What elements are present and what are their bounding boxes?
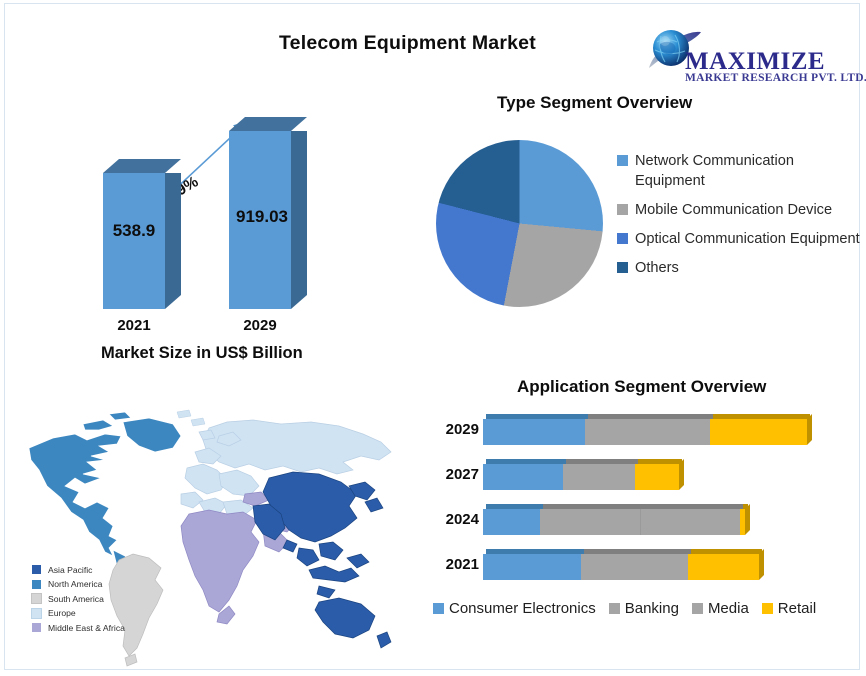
stack-2024 [483,509,749,535]
segment-consumer-electronics[interactable] [483,509,540,535]
legend-label: South America [48,594,104,604]
map-legend-item[interactable]: Asia Pacific [31,564,201,575]
legend-item[interactable]: Others [617,258,866,278]
stack-2027 [483,464,684,490]
bar-end-cap [679,459,684,490]
segment-retail[interactable] [710,419,807,445]
segment-consumer-electronics[interactable] [483,554,581,580]
bar-2029-category: 2029 [227,317,293,334]
bar-end-cap [759,549,764,580]
type-segment-pie-chart [436,140,603,307]
bar-end-cap [807,414,812,445]
legend-label: Consumer Electronics [449,600,596,617]
legend-swatch [617,204,628,215]
legend-item[interactable]: Mobile Communication Device [617,200,866,220]
legend-swatch [433,603,444,614]
page-title: Telecom Equipment Market [279,32,679,55]
row-label: 2024 [425,511,479,528]
legend-swatch [617,262,628,273]
map-legend: Asia Pacific North America South America… [31,564,201,637]
row-label: 2027 [425,466,479,483]
legend-label: Optical Communication Equipment [635,229,860,249]
legend-item[interactable]: Retail [762,600,816,617]
logo-tagline: MARKET RESEARCH PVT. LTD. [685,72,866,84]
legend-label: Network Communication Equipment [635,151,866,191]
bar-2021-value: 538.9 [103,221,165,241]
legend-label: Mobile Communication Device [635,200,832,220]
legend-swatch [617,233,628,244]
market-size-axis-label: Market Size in US$ Billion [101,344,303,363]
legend-label: North America [48,579,102,589]
segment-retail[interactable] [635,464,679,490]
market-size-bar-chart: CAGR 6.9% 538.9 2021 919.03 2029 Market … [23,99,403,384]
legend-item[interactable]: Media [692,600,749,617]
legend-swatch [609,603,620,614]
segment-consumer-electronics[interactable] [483,419,585,445]
segment-banking[interactable] [540,509,640,535]
map-legend-item[interactable]: South America [31,593,201,604]
type-segment-title: Type Segment Overview [497,93,692,113]
application-segment-stacked-bar-chart: 2029 2027 [425,414,865,594]
legend-label: Middle East & Africa [48,623,125,633]
legend-label: Media [708,600,749,617]
application-segment-legend: Consumer Electronics Banking Media Retai… [433,600,829,617]
bar-2021-category: 2021 [101,317,167,334]
legend-swatch [692,603,703,614]
legend-item[interactable]: Network Communication Equipment [617,151,866,191]
legend-item[interactable]: Optical Communication Equipment [617,229,866,249]
legend-swatch [31,564,42,575]
segment-retail[interactable] [740,509,745,535]
legend-swatch [31,608,42,619]
row-label: 2029 [425,421,479,438]
legend-label: Others [635,258,679,278]
legend-label: Europe [48,608,76,618]
legend-item[interactable]: Banking [609,600,679,617]
legend-label: Asia Pacific [48,565,92,575]
map-decorative-islands [177,410,205,426]
cagr-arrow [23,99,403,299]
stack-2029 [483,419,819,445]
map-legend-item[interactable]: North America [31,579,201,590]
bar-2029-value: 919.03 [223,207,301,227]
stack-2021 [483,554,764,580]
legend-label: Retail [778,600,816,617]
bar-end-cap [745,504,750,535]
legend-item[interactable]: Consumer Electronics [433,600,596,617]
legend-swatch [617,155,628,166]
legend-label: Banking [625,600,679,617]
legend-swatch [31,579,42,590]
type-segment-legend: Network Communication Equipment Mobile C… [617,151,866,287]
map-region-asia-pacific [253,472,391,648]
segment-consumer-electronics[interactable] [483,464,563,490]
infographic-frame: Telecom Equipment Market MAXIMI [4,3,860,670]
legend-swatch [762,603,773,614]
map-region-north-america [29,412,181,582]
map-legend-item[interactable]: Europe [31,608,201,619]
segment-banking[interactable] [581,554,688,580]
segment-banking[interactable] [563,464,635,490]
legend-swatch [31,622,42,633]
map-legend-item[interactable]: Middle East & Africa [31,622,201,633]
row-label: 2021 [425,556,479,573]
segment-media[interactable] [640,509,740,535]
company-logo: MAXIMIZE MARKET RESEARCH PVT. LTD. [627,22,865,84]
segment-retail[interactable] [688,554,759,580]
segment-banking[interactable] [585,419,710,445]
legend-swatch [31,593,42,604]
application-segment-title: Application Segment Overview [517,377,766,397]
